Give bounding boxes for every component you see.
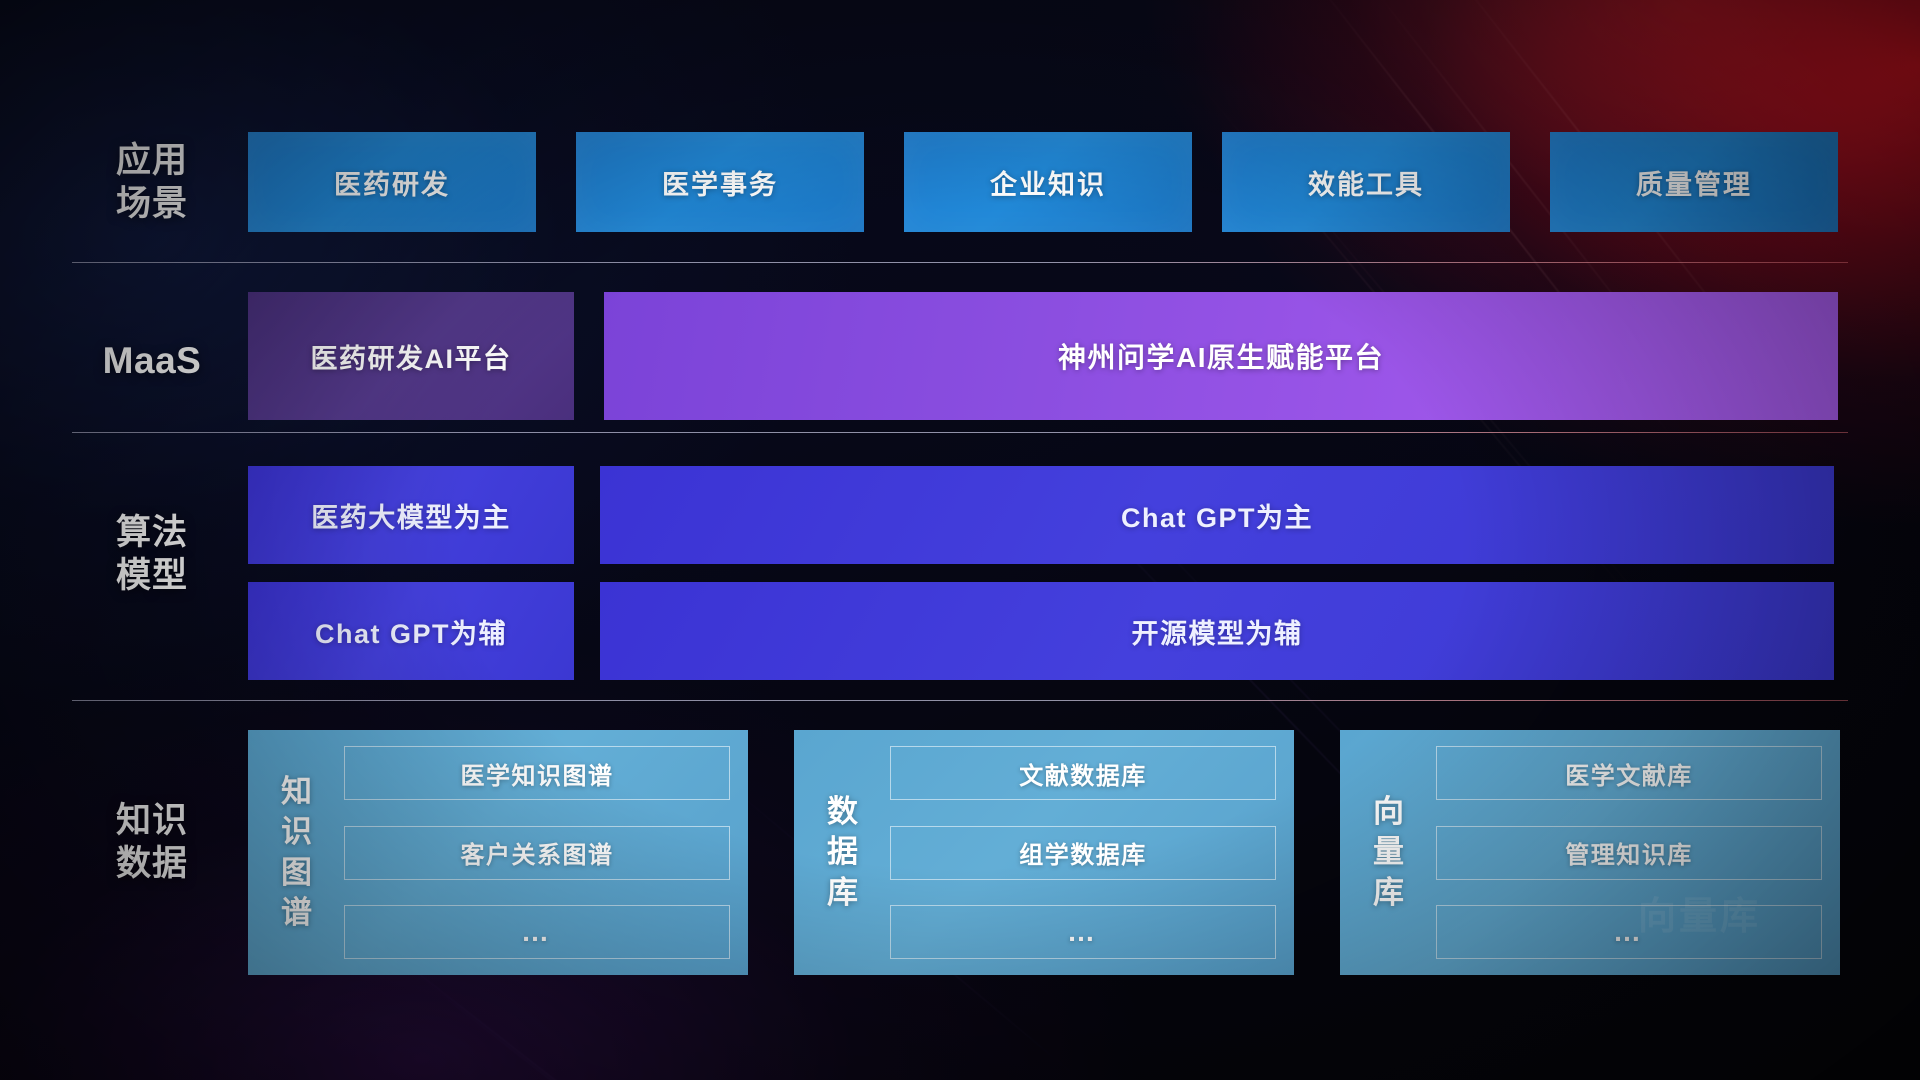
knowledge-item[interactable]: 医学文献库 <box>1436 746 1822 800</box>
title-char: 谱 <box>281 893 313 933</box>
diagram-canvas: 应用 场景 医药研发 医学事务 企业知识 效能工具 质量管理 MaaS 医药研发… <box>0 0 1920 1080</box>
row-label-line: 应用 <box>72 140 232 183</box>
maas-platform-box[interactable]: 神州问学AI原生赋能平台 <box>604 292 1838 420</box>
title-char: 量 <box>1373 832 1405 872</box>
algorithm-model-box[interactable]: Chat GPT为主 <box>600 466 1834 564</box>
maas-platform-label: 神州问学AI原生赋能平台 <box>1058 336 1384 376</box>
app-scenario-label: 效能工具 <box>1308 163 1424 202</box>
algorithm-model-label: Chat GPT为辅 <box>315 612 507 651</box>
knowledge-item[interactable]: 管理知识库 <box>1436 826 1822 880</box>
knowledge-group-panel: 向 量 库 医学文献库 管理知识库 … <box>1340 730 1840 975</box>
title-char: 库 <box>1373 873 1405 913</box>
algorithm-model-label: 开源模型为辅 <box>1132 612 1303 651</box>
knowledge-group-title: 数 据 库 <box>812 746 874 959</box>
app-scenario-label: 企业知识 <box>990 163 1106 202</box>
row-label-knowledge-data: 知识 数据 <box>72 800 232 885</box>
row-label-line: MaaS <box>72 338 232 383</box>
app-scenario-box[interactable]: 质量管理 <box>1550 132 1838 232</box>
knowledge-item[interactable]: 文献数据库 <box>890 746 1276 800</box>
row-label-algorithm-model: 算法 模型 <box>72 512 232 597</box>
app-scenario-box[interactable]: 效能工具 <box>1222 132 1510 232</box>
app-scenario-label: 质量管理 <box>1636 163 1752 202</box>
knowledge-item-more[interactable]: … <box>344 905 730 959</box>
row-label-maas: MaaS <box>72 338 232 383</box>
algorithm-model-box[interactable]: Chat GPT为辅 <box>248 582 574 680</box>
title-char: 库 <box>827 873 859 913</box>
knowledge-group-title: 知 识 图 谱 <box>266 746 328 959</box>
row-divider <box>72 262 1848 263</box>
knowledge-item-more[interactable]: … <box>890 905 1276 959</box>
algorithm-model-label: 医药大模型为主 <box>311 496 511 535</box>
row-divider <box>72 432 1848 433</box>
algorithm-model-box[interactable]: 开源模型为辅 <box>600 582 1834 680</box>
title-char: 识 <box>281 812 313 852</box>
maas-platform-label: 医药研发AI平台 <box>311 337 512 376</box>
knowledge-item-list: 医学文献库 管理知识库 … <box>1436 746 1822 959</box>
row-label-line: 场景 <box>72 183 232 226</box>
knowledge-item-list: 医学知识图谱 客户关系图谱 … <box>344 746 730 959</box>
title-char: 数 <box>827 792 859 832</box>
title-char: 知 <box>281 772 313 812</box>
knowledge-group-title: 向 量 库 <box>1358 746 1420 959</box>
app-scenario-box[interactable]: 医药研发 <box>248 132 536 232</box>
title-char: 图 <box>281 853 313 893</box>
app-scenario-box[interactable]: 企业知识 <box>904 132 1192 232</box>
app-scenario-label: 医药研发 <box>334 163 450 202</box>
knowledge-group-panel: 数 据 库 文献数据库 组学数据库 … <box>794 730 1294 975</box>
row-label-application-scenarios: 应用 场景 <box>72 140 232 225</box>
title-char: 向 <box>1373 792 1405 832</box>
knowledge-item[interactable]: 医学知识图谱 <box>344 746 730 800</box>
row-label-line: 知识 <box>72 800 232 843</box>
maas-platform-box[interactable]: 医药研发AI平台 <box>248 292 574 420</box>
row-label-line: 数据 <box>72 843 232 886</box>
app-scenario-box[interactable]: 医学事务 <box>576 132 864 232</box>
row-divider <box>72 700 1848 701</box>
app-scenario-label: 医学事务 <box>662 163 778 202</box>
knowledge-item-list: 文献数据库 组学数据库 … <box>890 746 1276 959</box>
algorithm-model-label: Chat GPT为主 <box>1121 496 1313 535</box>
knowledge-item[interactable]: 组学数据库 <box>890 826 1276 880</box>
title-char: 据 <box>827 832 859 872</box>
knowledge-item[interactable]: 客户关系图谱 <box>344 826 730 880</box>
row-label-line: 算法 <box>72 512 232 555</box>
row-label-line: 模型 <box>72 555 232 598</box>
algorithm-model-box[interactable]: 医药大模型为主 <box>248 466 574 564</box>
knowledge-item-more[interactable]: … <box>1436 905 1822 959</box>
knowledge-group-panel: 知 识 图 谱 医学知识图谱 客户关系图谱 … <box>248 730 748 975</box>
